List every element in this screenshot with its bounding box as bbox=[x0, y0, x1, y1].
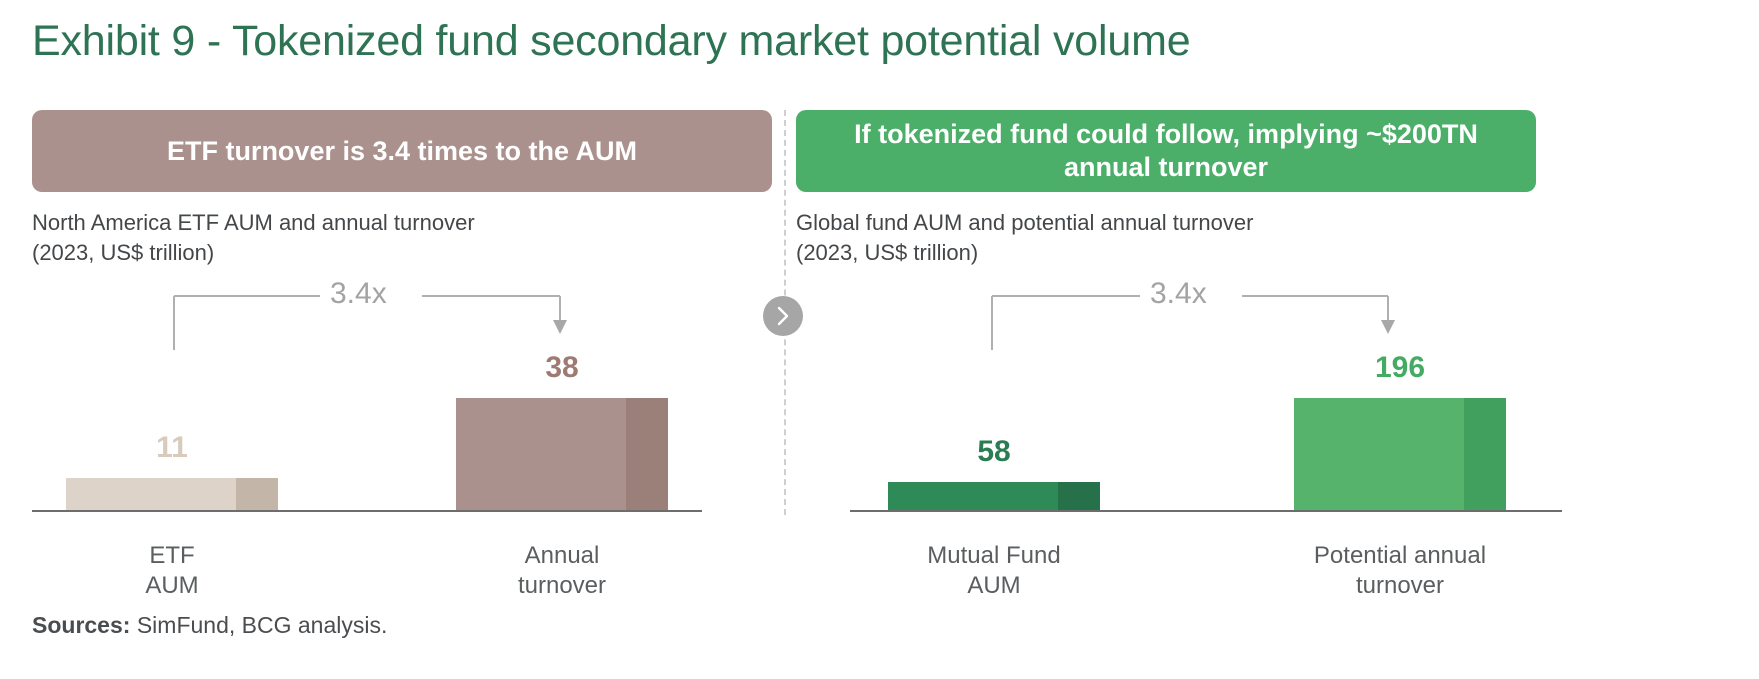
panel-global-fund: If tokenized fund could follow, implying… bbox=[796, 110, 1536, 192]
bar-mutual-fund-aum[interactable] bbox=[888, 482, 1100, 510]
exhibit-root: Exhibit 9 - Tokenized fund secondary mar… bbox=[0, 0, 1759, 679]
bar-etf-aum[interactable] bbox=[66, 478, 278, 510]
panel-left-subtitle: North America ETF AUM and annual turnove… bbox=[32, 208, 475, 268]
sources-text: SimFund, BCG analysis. bbox=[137, 612, 388, 638]
page-title: Exhibit 9 - Tokenized fund secondary mar… bbox=[32, 13, 1190, 69]
panel-left-banner: ETF turnover is 3.4 times to the AUM bbox=[32, 110, 772, 192]
chart-left: 3.4x 11 ETF AUM 38 Annual turnover bbox=[32, 280, 772, 625]
bar-face bbox=[66, 478, 236, 510]
bar-potential-annual-turnover[interactable] bbox=[1294, 398, 1506, 510]
bar-face bbox=[888, 482, 1058, 510]
ratio-bracket-right: 3.4x bbox=[990, 288, 1400, 358]
axis-baseline-right bbox=[850, 510, 1562, 512]
bar-value-potential-annual-turnover: 196 bbox=[1294, 351, 1506, 385]
bar-label-etf-aum: ETF AUM bbox=[66, 541, 278, 601]
bar-face bbox=[456, 398, 626, 510]
bar-side bbox=[1464, 398, 1506, 510]
bar-value-mutual-fund-aum: 58 bbox=[888, 435, 1100, 469]
bar-value-etf-aum: 11 bbox=[66, 431, 278, 465]
bar-side bbox=[1058, 482, 1100, 510]
sources-label: Sources: bbox=[32, 612, 130, 638]
panel-right-banner: If tokenized fund could follow, implying… bbox=[796, 110, 1536, 192]
bar-label-mutual-fund-aum: Mutual Fund AUM bbox=[888, 541, 1100, 601]
axis-baseline-left bbox=[32, 510, 702, 512]
chart-right: 3.4x 58 Mutual Fund AUM 196 Potential an… bbox=[796, 280, 1536, 625]
bar-value-annual-turnover: 38 bbox=[456, 351, 668, 385]
bar-face bbox=[1294, 398, 1464, 510]
bar-label-potential-annual-turnover: Potential annual turnover bbox=[1294, 541, 1506, 601]
bar-side bbox=[236, 478, 278, 510]
bar-side bbox=[626, 398, 668, 510]
ratio-bracket-left: 3.4x bbox=[172, 288, 572, 358]
bar-annual-turnover[interactable] bbox=[456, 398, 668, 510]
sources-note: Sources: SimFund, BCG analysis. bbox=[32, 612, 387, 639]
panel-north-america: ETF turnover is 3.4 times to the AUM Nor… bbox=[32, 110, 772, 192]
panel-right-subtitle: Global fund AUM and potential annual tur… bbox=[796, 208, 1253, 268]
ratio-label-right: 3.4x bbox=[1140, 277, 1217, 311]
ratio-label-left: 3.4x bbox=[320, 277, 397, 311]
bar-label-annual-turnover: Annual turnover bbox=[456, 541, 668, 601]
